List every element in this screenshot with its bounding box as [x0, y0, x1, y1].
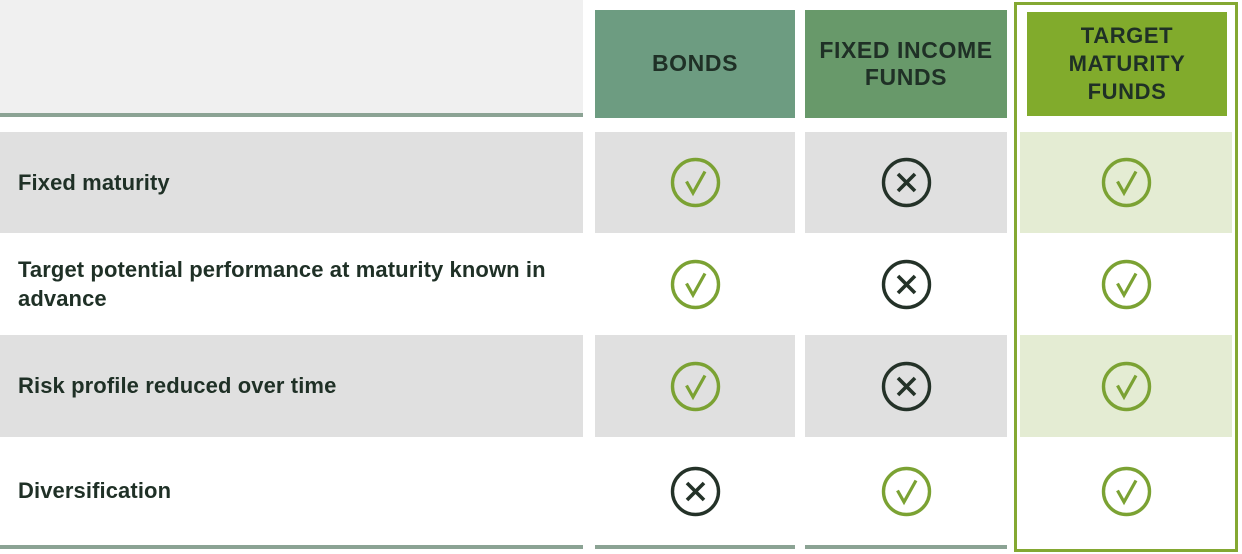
column-header-bonds: BONDS [595, 10, 795, 118]
check-circle-icon [1100, 156, 1153, 209]
cell-bonds-fixed-maturity [595, 132, 795, 233]
table-row: Target potential performance at maturity… [0, 233, 583, 335]
column-header-fixed-income-funds-label: FIXED INCOME FUNDS [815, 37, 997, 91]
check-circle-icon [1100, 360, 1153, 413]
check-circle-icon [1100, 465, 1153, 518]
table-bottom-rule-label-column [0, 545, 583, 549]
cross-circle-icon [880, 360, 933, 413]
cell-target-maturity-funds-target-potential-performance [1020, 233, 1232, 335]
header-label-cell [0, 0, 583, 117]
column-header-target-maturity-funds-label: TARGET MATURITY FUNDS [1037, 22, 1217, 106]
cross-circle-icon [880, 156, 933, 209]
cell-fixed-income-funds-diversification [805, 437, 1007, 545]
cell-bonds-risk-profile-reduced [595, 335, 795, 437]
check-circle-icon [669, 258, 722, 311]
table-bottom-rule-bonds [595, 545, 795, 549]
table-row: Risk profile reduced over time [0, 335, 583, 437]
check-circle-icon [880, 465, 933, 518]
cell-bonds-diversification [595, 437, 795, 545]
cell-bonds-target-potential-performance [595, 233, 795, 335]
cross-circle-icon [669, 465, 722, 518]
cell-target-maturity-funds-risk-profile-reduced [1020, 335, 1232, 437]
check-circle-icon [669, 156, 722, 209]
cell-fixed-income-funds-risk-profile-reduced [805, 335, 1007, 437]
table-row: Diversification [0, 437, 583, 545]
row-label: Target potential performance at maturity… [18, 255, 565, 313]
cell-target-maturity-funds-fixed-maturity [1020, 132, 1232, 233]
table-row: Fixed maturity [0, 132, 583, 233]
table-bottom-rule-fixed-income-funds [805, 545, 1007, 549]
check-circle-icon [669, 360, 722, 413]
column-header-bonds-label: BONDS [652, 50, 738, 77]
check-circle-icon [1100, 258, 1153, 311]
cell-target-maturity-funds-diversification [1020, 437, 1232, 545]
cell-fixed-income-funds-fixed-maturity [805, 132, 1007, 233]
row-label: Fixed maturity [18, 168, 170, 197]
row-label: Diversification [18, 476, 171, 505]
column-header-target-maturity-funds: TARGET MATURITY FUNDS [1027, 12, 1227, 116]
row-label: Risk profile reduced over time [18, 371, 336, 400]
column-header-fixed-income-funds: FIXED INCOME FUNDS [805, 10, 1007, 118]
cell-fixed-income-funds-target-potential-performance [805, 233, 1007, 335]
comparison-table: BONDS FIXED INCOME FUNDS TARGET MATURITY… [0, 0, 1242, 554]
cross-circle-icon [880, 258, 933, 311]
